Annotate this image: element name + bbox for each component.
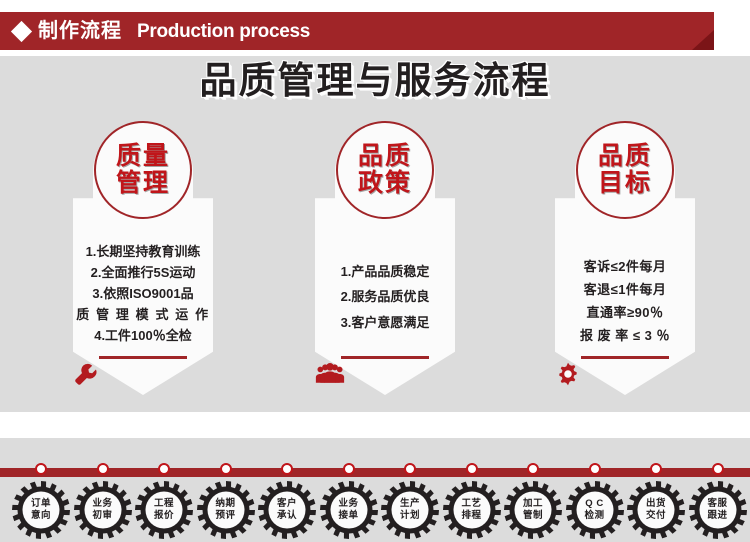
card-quality-goal: 品质 目标 客诉≤2件每月 客退≤1件每月 直通率≥90％ 报 废 率 ≤ 3 …: [555, 155, 695, 395]
people-icon: [315, 361, 455, 385]
timeline-node-dot: [281, 463, 293, 475]
timeline-node-dot: [589, 463, 601, 475]
timeline-node-label: 工程报价: [135, 481, 193, 539]
timeline-node-dot: [466, 463, 478, 475]
page-root: 制作流程 Production process 品质管理与服务流程 质量 管理 …: [0, 0, 750, 542]
timeline-node[interactable]: 生产计划: [381, 477, 439, 535]
card-item-list: 1.产品品质稳定 2.服务品质优良 3.客户意愿满足: [315, 259, 455, 335]
timeline-track: [0, 468, 750, 477]
timeline-node-label-line-2: 意向: [31, 510, 51, 522]
timeline-node-label-line-2: 初审: [92, 510, 112, 522]
header-title-en: Production process: [137, 22, 310, 41]
list-item: 1.产品品质稳定: [315, 259, 455, 284]
card-badge-line-2: 政策: [358, 170, 412, 197]
timeline-node-label-line-1: 业务: [338, 498, 358, 510]
timeline-node[interactable]: 纳期预评: [197, 477, 255, 535]
list-item: 3.依照ISO9001品: [73, 283, 213, 304]
card-badge-circle: 品质 政策: [336, 121, 434, 219]
timeline-node[interactable]: 加工管制: [504, 477, 562, 535]
timeline-node-label-line-1: 生产: [400, 498, 420, 510]
timeline-node-label-line-1: 纳期: [215, 498, 235, 510]
timeline-node-label: 客户承认: [258, 481, 316, 539]
card-badge-line-1: 品质: [598, 143, 652, 170]
timeline-node-label: 生产计划: [381, 481, 439, 539]
list-item: 质 管 理 模 式 运 作: [73, 304, 213, 325]
timeline-node[interactable]: 业务接单: [320, 477, 378, 535]
timeline-node-dot: [650, 463, 662, 475]
list-item: 直通率≥90％: [555, 301, 695, 324]
timeline-node[interactable]: 工艺排程: [443, 477, 501, 535]
timeline-node[interactable]: 客户承认: [258, 477, 316, 535]
list-item: 3.客户意愿满足: [315, 310, 455, 335]
timeline-node[interactable]: 工程报价: [135, 477, 193, 535]
timeline-node-dot: [97, 463, 109, 475]
timeline-node[interactable]: 订单意向: [12, 477, 70, 535]
list-item: 1.长期坚持教育训练: [73, 241, 213, 262]
timeline-node-label: 客服跟进: [689, 481, 747, 539]
list-item: 客退≤1件每月: [555, 278, 695, 301]
card-item-list: 客诉≤2件每月 客退≤1件每月 直通率≥90％ 报 废 率 ≤ 3 ％: [555, 255, 695, 348]
timeline-node-label-line-2: 预评: [215, 510, 235, 522]
list-item: 客诉≤2件每月: [555, 255, 695, 278]
timeline-node-label: 工艺排程: [443, 481, 501, 539]
list-item: 报 废 率 ≤ 3 ％: [555, 324, 695, 347]
section-header-bar: 制作流程 Production process: [0, 12, 714, 50]
timeline-node-dot: [712, 463, 724, 475]
card-badge-line-1: 质量: [116, 143, 170, 170]
list-item: 2.服务品质优良: [315, 284, 455, 309]
timeline-node-label: 加工管制: [504, 481, 562, 539]
card-quality-policy: 品质 政策 1.产品品质稳定 2.服务品质优良 3.客户意愿满足: [315, 155, 455, 395]
timeline-node-label-line-2: 管制: [523, 510, 543, 522]
card-badge-line-2: 目标: [598, 170, 652, 197]
wrench-icon: [73, 363, 213, 389]
timeline-node-label-line-1: 客服: [707, 498, 727, 510]
timeline-node-label-line-2: 跟进: [707, 510, 727, 522]
timeline-node-label: 纳期预评: [197, 481, 255, 539]
timeline-node-label-line-1: 订单: [31, 498, 51, 510]
timeline-node-label: Q C检测: [566, 481, 624, 539]
timeline-node-label-line-1: Q C: [585, 498, 603, 510]
timeline-node-label-line-1: 业务: [92, 498, 112, 510]
header-inner: 制作流程 Production process: [0, 21, 310, 41]
timeline-node[interactable]: 业务初审: [74, 477, 132, 535]
list-item: 2.全面推行5S运动: [73, 262, 213, 283]
timeline-node-dot: [35, 463, 47, 475]
card-badge-line-1: 品质: [358, 143, 412, 170]
timeline-node-label-line-1: 工艺: [461, 498, 481, 510]
card-divider: [581, 356, 669, 359]
card-divider: [341, 356, 429, 359]
timeline-node-label-line-2: 计划: [400, 510, 420, 522]
timeline-node-label-line-2: 报价: [154, 510, 174, 522]
timeline-node-dot: [404, 463, 416, 475]
timeline-node-label-line-1: 加工: [523, 498, 543, 510]
timeline-node-label-line-2: 接单: [338, 510, 358, 522]
page-title: 品质管理与服务流程: [0, 62, 750, 99]
timeline-node-label: 出货交付: [627, 481, 685, 539]
timeline-node[interactable]: 客服跟进: [689, 477, 747, 535]
timeline-node-label-line-2: 检测: [584, 510, 604, 522]
timeline-node-dot: [343, 463, 355, 475]
timeline-node[interactable]: 出货交付: [627, 477, 685, 535]
card-item-list: 1.长期坚持教育训练 2.全面推行5S运动 3.依照ISO9001品 质 管 理…: [73, 241, 213, 346]
timeline-node-label-line-1: 出货: [646, 498, 666, 510]
card-badge-line-2: 管理: [116, 170, 170, 197]
card-quality-management: 质量 管理 1.长期坚持教育训练 2.全面推行5S运动 3.依照ISO9001品…: [73, 155, 213, 395]
timeline-node-label-line-2: 交付: [646, 510, 666, 522]
card-divider: [99, 356, 187, 359]
timeline-node[interactable]: Q C检测: [566, 477, 624, 535]
card-badge-circle: 质量 管理: [94, 121, 192, 219]
timeline-node-dot: [527, 463, 539, 475]
timeline-node-label-line-1: 客户: [277, 498, 297, 510]
timeline-node-label: 业务接单: [320, 481, 378, 539]
diamond-icon: [11, 20, 32, 41]
timeline-node-label-line-2: 承认: [277, 510, 297, 522]
timeline-node-dot: [158, 463, 170, 475]
timeline-node-label: 业务初审: [74, 481, 132, 539]
timeline-node-label-line-2: 排程: [461, 510, 481, 522]
timeline-node-label-line-1: 工程: [154, 498, 174, 510]
card-badge-circle: 品质 目标: [576, 121, 674, 219]
list-item: 4.工件100％全检: [73, 325, 213, 346]
timeline-node-label: 订单意向: [12, 481, 70, 539]
header-title-cn: 制作流程: [38, 21, 122, 41]
gear-icon: [555, 361, 695, 387]
timeline-node-dot: [220, 463, 232, 475]
